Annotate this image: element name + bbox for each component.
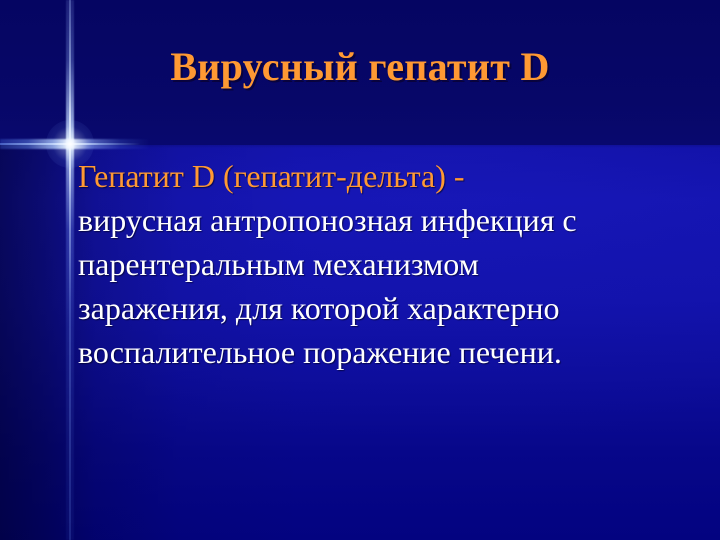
body-line-2: вирусная антропонозная инфекция с	[78, 198, 658, 242]
body-line-1: Гепатит D (гепатит-дельта) -	[78, 154, 658, 198]
slide-canvas: Вирусный гепатит D Гепатит D (гепатит-де…	[0, 0, 720, 540]
body-line-5: воспалительное поражение печени.	[78, 330, 658, 374]
slide-body: Гепатит D (гепатит-дельта) - вирусная ан…	[78, 154, 658, 374]
body-line-4: заражения, для которой характерно	[78, 286, 658, 330]
slide-title: Вирусный гепатит D	[0, 42, 720, 92]
body-line-3: парентеральным механизмом	[78, 242, 658, 286]
